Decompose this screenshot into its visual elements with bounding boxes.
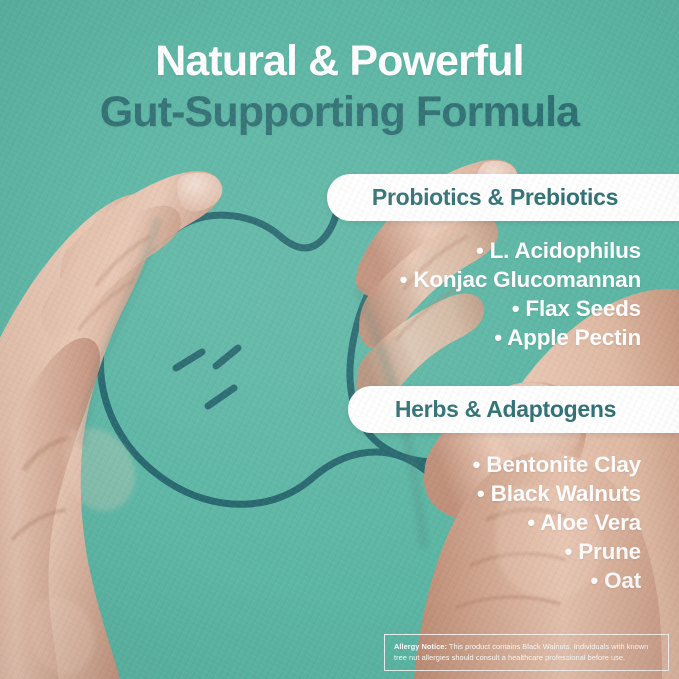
list-item: Oat [473,566,641,595]
list-item: Aloe Vera [473,508,641,537]
section-header-probiotics: Probiotics & Prebiotics [327,174,679,221]
product-infographic: Natural & Powerful Gut-Supporting Formul… [0,0,679,679]
list-item: Konjac Glucomannan [400,265,641,294]
list-item: L. Acidophilus [400,236,641,265]
ingredient-list-herbs: Bentonite Clay Black Walnuts Aloe Vera P… [473,450,641,595]
headline-line-1: Natural & Powerful [18,36,661,87]
headline-line-2: Gut-Supporting Formula [18,87,661,138]
list-item: Black Walnuts [473,479,641,508]
list-item: Prune [473,537,641,566]
ingredient-list-probiotics: L. Acidophilus Konjac Glucomannan Flax S… [400,236,641,352]
list-item: Apple Pectin [400,323,641,352]
list-item: Flax Seeds [400,294,641,323]
section-header-herbs-label: Herbs & Adaptogens [395,396,632,423]
section-header-probiotics-label: Probiotics & Prebiotics [372,184,634,211]
page-title: Natural & Powerful Gut-Supporting Formul… [0,36,679,138]
allergy-notice-label: Allergy Notice: [394,642,447,651]
left-fingernail [177,173,222,212]
section-header-herbs: Herbs & Adaptogens [348,386,679,433]
left-hand [0,171,222,679]
list-item: Bentonite Clay [473,450,641,479]
allergy-notice: Allergy Notice: This product contains Bl… [384,634,669,671]
